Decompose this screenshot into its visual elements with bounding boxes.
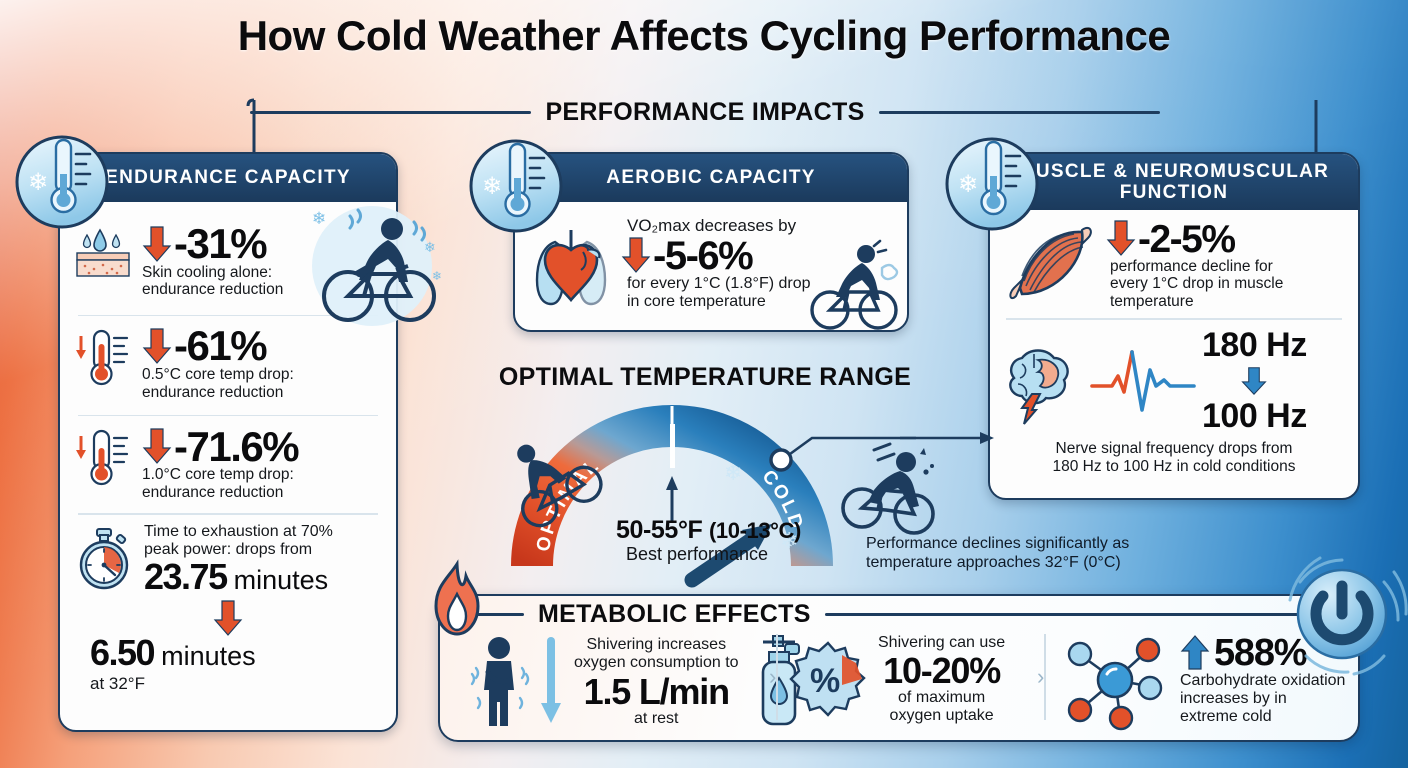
metric-core-temp-05-value: -61% xyxy=(174,326,266,366)
nerve-caption2: 180 Hz to 100 Hz in cold conditions xyxy=(1002,458,1346,477)
brain-bolt-icon xyxy=(1002,338,1088,424)
nerve-to-hz: 100 Hz xyxy=(1202,397,1307,436)
card-muscle-neuromuscular: MUSCLE & NEUROMUSCULAR FUNCTION xyxy=(988,152,1360,500)
cold-cyclist-icon xyxy=(808,240,904,332)
exhaustion-lead1: Time to exhaustion at 70% xyxy=(144,523,382,541)
struggling-cold-cyclist-icon xyxy=(838,440,948,540)
metabolic-item-2-tail1: of maximum xyxy=(878,689,1005,707)
card-aerobic-header: AEROBIC CAPACITY xyxy=(515,154,907,202)
thermometer-down-icon xyxy=(74,426,134,490)
aerobic-desc2: in core temperature xyxy=(627,293,811,311)
exhaustion-to-row: 6.50 minutes xyxy=(90,636,382,672)
divider-muscle xyxy=(1006,318,1342,320)
metric-core-temp-10-text: -71.6% 1.0°C core temp drop: endurance r… xyxy=(142,426,382,501)
muscle-desc1: performance decline for xyxy=(1110,258,1283,275)
divider-2 xyxy=(78,415,378,417)
metabolic-item-3-tail2: increases by in xyxy=(1180,690,1345,708)
gauge-note-line2: temperature approaches 32°F (0°C) xyxy=(866,553,1129,572)
metric-core-temp-10: -71.6% 1.0°C core temp drop: endurance r… xyxy=(74,426,382,501)
exhaustion-from-value: 23.75 xyxy=(144,560,227,594)
metabolic-item-1-text: Shivering increases oxygen consumption t… xyxy=(574,636,739,728)
up-arrow-blue-icon xyxy=(1180,634,1210,672)
down-arrow-blue-icon xyxy=(538,637,564,727)
percent-badge-icon: % xyxy=(790,641,866,719)
card-muscle-body: -2-5% performance decline for every 1°C … xyxy=(990,210,1358,481)
metabolic-item-2-tail2: oxygen uptake xyxy=(878,707,1005,725)
metric-exhaustion-text: Time to exhaustion at 70% peak power: dr… xyxy=(144,523,382,597)
metabolic-item-2-text: Shivering can use 10-20% of maximum oxyg… xyxy=(878,634,1005,725)
muscle-desc3: temperature xyxy=(1110,293,1283,310)
metric-core-temp-05: -61% 0.5°C core temp drop: endurance red… xyxy=(74,326,382,401)
molecule-icon xyxy=(1060,634,1170,726)
metabolic-item-oxygen-uptake: % Shivering can use 10-20% of maximum ox… xyxy=(790,634,1005,725)
svg-text:❄: ❄ xyxy=(958,170,978,198)
metric-core-temp-10-desc2: endurance reduction xyxy=(142,484,382,501)
snowflake-icon: ❄ xyxy=(724,461,742,486)
nerve-hz-block: 180 Hz 100 Hz xyxy=(1202,326,1307,436)
metric-core-temp-10-value-row: -71.6% xyxy=(142,426,382,466)
svg-text:❄: ❄ xyxy=(312,209,326,229)
aerobic-text: VO₂max decreases by -5-6% for every 1°C … xyxy=(621,216,811,311)
metabolic-item-1-lead2: oxygen consumption to xyxy=(574,654,739,672)
metric-core-temp-05-text: -61% 0.5°C core temp drop: endurance red… xyxy=(142,326,382,401)
down-arrow-red-icon xyxy=(211,598,245,638)
gauge-note-line1: Performance declines significantly as xyxy=(866,534,1129,553)
down-arrow-red-icon xyxy=(142,224,172,264)
metabolic-effects-band: METABOLIC EFFECTS xyxy=(452,600,1352,629)
optimal-range-title: OPTIMAL TEMPERATURE RANGE xyxy=(485,363,925,392)
nerve-from-hz: 180 Hz xyxy=(1202,326,1307,365)
metric-core-temp-10-desc1: 1.0°C core temp drop: xyxy=(142,466,382,483)
exhaustion-from-unit: minutes xyxy=(234,565,329,596)
exhaustion-from-row: 23.75 minutes xyxy=(144,560,382,596)
metabolic-band-line-right xyxy=(825,613,1352,616)
aerobic-value: -5-6% xyxy=(653,237,752,275)
warm-cyclist-icon xyxy=(508,428,604,520)
muscle-value: -2-5% xyxy=(1138,221,1235,258)
thermometer-snowflake-icon: ❄ xyxy=(944,136,1040,232)
card-muscle-header-line2: FUNCTION xyxy=(1120,182,1229,203)
thermometer-snowflake-icon: ❄ xyxy=(468,138,564,234)
metabolic-item-shivering-oxygen: Shivering increases oxygen consumption t… xyxy=(466,634,809,730)
svg-text:❄: ❄ xyxy=(432,269,442,283)
power-button-icon[interactable] xyxy=(1276,548,1408,680)
aerobic-desc1: for every 1°C (1.8°F) drop xyxy=(627,275,811,293)
gauge-best-performance: Best performance xyxy=(626,544,768,565)
aerobic-value-row: -5-6% xyxy=(621,235,811,275)
optimal-range-band: OPTIMAL TEMPERATURE RANGE xyxy=(480,363,930,392)
svg-text:%: % xyxy=(810,662,840,700)
stopwatch-icon xyxy=(74,523,136,591)
thermometer-snowflake-icon: ❄ xyxy=(14,134,110,230)
gauge-marker-dot-icon xyxy=(771,450,791,470)
gauge-range-label: 50-55°F (10-13°C) xyxy=(616,516,801,545)
metabolic-item-1-tail: at rest xyxy=(574,710,739,728)
shivering-person-icon xyxy=(466,634,532,730)
svg-text:❄: ❄ xyxy=(482,172,502,200)
metric-core-temp-10-value: -71.6% xyxy=(174,427,298,467)
thermometer-down-icon xyxy=(74,326,134,390)
down-arrow-blue-icon xyxy=(1239,366,1269,396)
muscle-value-row: -2-5% xyxy=(1106,218,1283,258)
exhaustion-condition: at 32°F xyxy=(90,674,382,693)
skin-droplet-icon xyxy=(74,224,134,284)
nerve-row: 180 Hz 100 Hz xyxy=(1002,326,1346,436)
gauge-note: Performance declines significantly as te… xyxy=(866,534,1129,572)
down-arrow-red-icon xyxy=(621,235,651,275)
down-arrow-red-icon xyxy=(1106,218,1136,258)
gauge-range-c: (10-13°C) xyxy=(709,518,801,543)
ecg-waveform-icon xyxy=(1090,346,1198,416)
metabolic-item-3-tail3: extreme cold xyxy=(1180,708,1345,726)
exhaustion-to-value: 6.50 xyxy=(90,636,154,670)
metabolic-item-2-value: 10-20% xyxy=(878,653,1005,689)
svg-text:❄: ❄ xyxy=(424,240,436,256)
page-title: How Cold Weather Affects Cycling Perform… xyxy=(0,12,1408,60)
metric-time-to-exhaustion: Time to exhaustion at 70% peak power: dr… xyxy=(74,523,382,597)
flame-icon xyxy=(424,560,490,642)
nerve-caption1: Nerve signal frequency drops from xyxy=(1002,440,1346,459)
card-muscle-header-line1: MUSCLE & NEUROMUSCULAR xyxy=(1019,161,1329,182)
metric-core-temp-05-desc1: 0.5°C core temp drop: xyxy=(142,366,382,383)
cold-cyclist-illustration: ❄ ❄ ❄ xyxy=(296,204,442,334)
metric-skin-cooling-value: -31% xyxy=(174,224,266,264)
metabolic-effects-title: METABOLIC EFFECTS xyxy=(524,600,825,629)
gauge-range-f: 50-55°F xyxy=(616,516,702,544)
infographic-canvas: How Cold Weather Affects Cycling Perform… xyxy=(0,0,1408,768)
muscle-row: -2-5% performance decline for every 1°C … xyxy=(1002,218,1346,310)
divider-3 xyxy=(78,513,378,515)
metric-core-temp-05-desc2: endurance reduction xyxy=(142,384,382,401)
chevron-right-icon: › xyxy=(1037,664,1044,690)
metabolic-item-1-lead1: Shivering increases xyxy=(574,636,739,654)
chevron-right-icon: › xyxy=(769,664,776,690)
card-endurance-header: ENDURANCE CAPACITY xyxy=(60,154,396,202)
down-arrow-red-icon xyxy=(142,426,172,466)
muscle-desc2: every 1°C drop in muscle xyxy=(1110,275,1283,292)
card-muscle-header: MUSCLE & NEUROMUSCULAR FUNCTION xyxy=(990,154,1358,210)
aerobic-lead: VO₂max decreases by xyxy=(627,216,811,235)
exhaustion-to-unit: minutes xyxy=(161,641,256,672)
exhaustion-to-block: 6.50 minutes at 32°F xyxy=(74,636,382,693)
metabolic-item-1-value: 1.5 L/min xyxy=(574,674,739,710)
svg-text:❄: ❄ xyxy=(28,168,48,196)
muscle-text: -2-5% performance decline for every 1°C … xyxy=(1106,218,1283,310)
down-arrow-red-icon xyxy=(142,326,172,366)
